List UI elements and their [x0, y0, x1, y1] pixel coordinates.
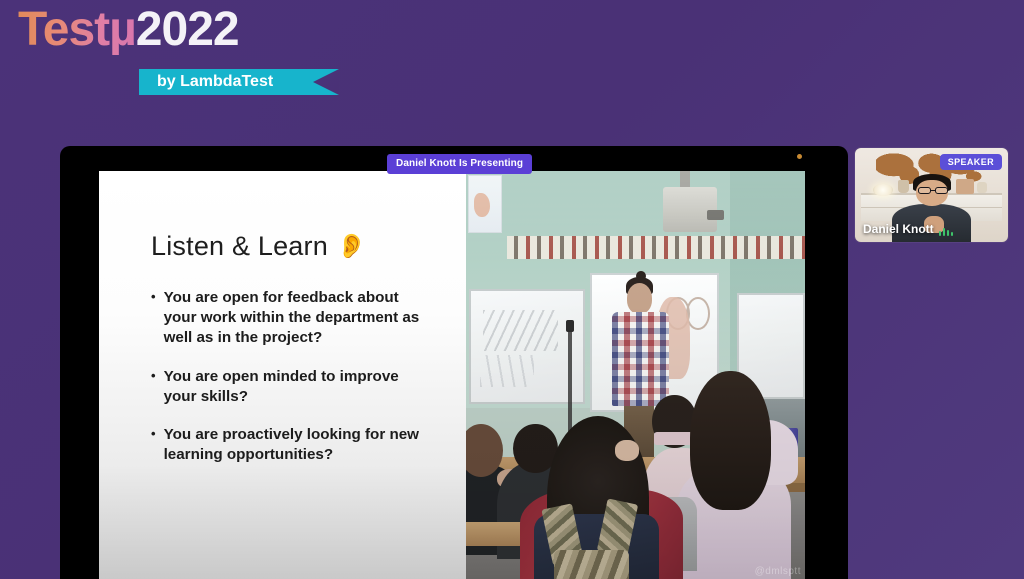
bullet-marker-icon: • [151, 367, 156, 407]
camera-indicator-icon [797, 154, 802, 159]
participant-name: Daniel Knott [863, 222, 934, 236]
photo-vignette [466, 171, 805, 579]
event-title-accent: Testµ [18, 3, 136, 56]
bullet-text: You are proactively looking for new lear… [164, 425, 436, 465]
webcam-lamp [873, 184, 893, 196]
webcam-decor-frame [956, 179, 974, 194]
brand-ribbon-label: by LambdaTest [157, 73, 273, 91]
webcam-glasses-lens-right [935, 187, 948, 194]
bullet-text: You are open for feedback about your wor… [164, 288, 436, 349]
brand-ribbon: by LambdaTest [139, 69, 339, 95]
slide-title: Listen & Learn [151, 231, 328, 262]
speaker-badge: SPEAKER [940, 154, 1002, 170]
ear-icon: 👂 [337, 235, 367, 259]
ribbon-notch [313, 69, 339, 95]
audio-bar [943, 228, 946, 236]
list-item: • You are proactively looking for new le… [151, 425, 456, 465]
audio-bar [951, 232, 954, 236]
event-title-year: 2022 [136, 3, 239, 56]
presenting-badge: Daniel Knott Is Presenting [387, 154, 532, 174]
list-item: • You are open minded to improve your sk… [151, 367, 456, 407]
video-conference-screen: Testµ2022 by LambdaTest Daniel Knott Is … [0, 0, 1024, 579]
slide-title-row: Listen & Learn 👂 [151, 231, 466, 262]
shared-screen-frame[interactable]: Listen & Learn 👂 • You are open for feed… [60, 146, 848, 579]
classroom-photo: @dmlsptt [466, 171, 805, 579]
webcam-glasses-lens-left [918, 187, 931, 194]
event-title: Testµ2022 [18, 6, 378, 54]
bullet-marker-icon: • [151, 425, 156, 465]
slide-text-column: Listen & Learn 👂 • You are open for feed… [99, 171, 466, 579]
audio-bar [947, 230, 950, 236]
presentation-slide: Listen & Learn 👂 • You are open for feed… [99, 171, 805, 579]
webcam-decor-vase [977, 182, 986, 193]
participant-name-row: Daniel Knott [863, 222, 953, 236]
audio-level-icon [939, 227, 954, 236]
photo-watermark: @dmlsptt [755, 566, 801, 577]
audio-bar [939, 231, 942, 236]
slide-bullet-list: • You are open for feedback about your w… [151, 288, 466, 466]
webcam-glasses-bridge [931, 190, 936, 192]
participant-video-tile[interactable]: SPEAKER Daniel Knott [855, 148, 1008, 242]
webcam-decor-vase [898, 180, 909, 193]
list-item: • You are open for feedback about your w… [151, 288, 456, 349]
bullet-text: You are open minded to improve your skil… [164, 367, 436, 407]
bullet-marker-icon: • [151, 288, 156, 349]
